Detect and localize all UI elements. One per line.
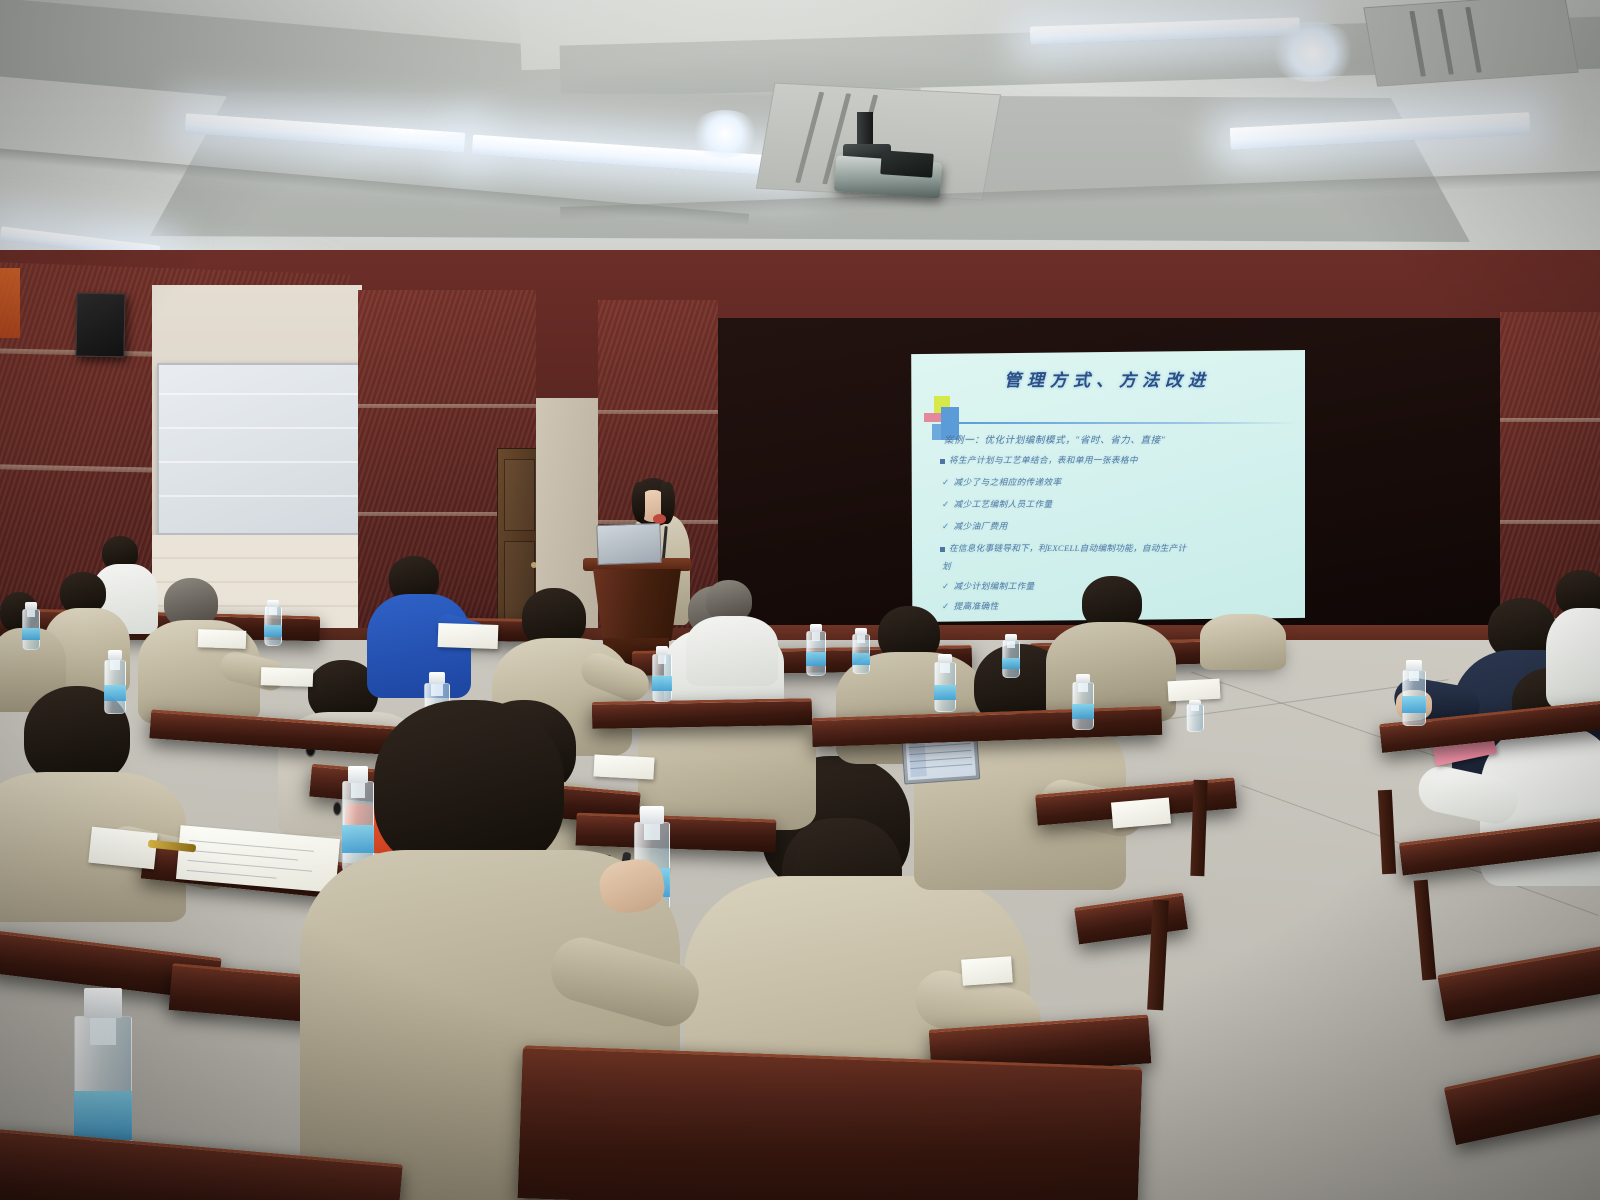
slide-line-text: 减少了与之相应的传递效率 (954, 477, 1062, 487)
bullet-dot-icon (940, 547, 945, 552)
water-bottle[interactable] (22, 602, 40, 650)
slide-line: ✓减少了与之相应的传递效率 (942, 476, 1062, 488)
wall-whiteboard (157, 363, 363, 535)
slide-line: 将生产计划与工艺单结合，表和单用一张表格中 (940, 454, 1138, 466)
slide-line-text: 减少工艺编制人员工作量 (954, 499, 1053, 509)
slide-line: 划 (942, 560, 951, 572)
check-mark-icon: ✓ (942, 581, 950, 592)
audience-member (1552, 570, 1600, 700)
notepaper[interactable] (261, 667, 314, 687)
slide-rule-line (948, 422, 1298, 424)
water-bottle[interactable] (1072, 674, 1094, 730)
notepaper[interactable] (961, 956, 1013, 985)
audience-member (686, 580, 776, 670)
check-mark-icon: ✓ (942, 477, 950, 488)
slide-line-text: 减少油厂费用 (954, 521, 1008, 531)
notepaper[interactable] (198, 629, 247, 649)
ac-ceiling-vent (1363, 0, 1578, 87)
water-bottle[interactable] (264, 600, 282, 646)
slide-line: ✓减少油厂费用 (942, 520, 1008, 532)
ceiling-spotlight (690, 110, 760, 158)
water-bottle[interactable] (1186, 700, 1204, 732)
slide-line: 在信息化事链导和下，利EXCELL自动编制功能，自动生产计 (940, 542, 1186, 554)
water-bottle[interactable] (652, 646, 672, 702)
desk-row-foreground (518, 1045, 1143, 1200)
slide-line-text: 案例一：优化计划编制模式，"省时、省力、直接" (944, 436, 1165, 446)
podium-laptop (596, 523, 661, 565)
slide-line: ✓减少计划编制工作量 (942, 580, 1035, 592)
water-bottle[interactable] (852, 628, 870, 674)
slide-line: 案例一：优化计划编制模式，"省时、省力、直接" (944, 432, 1165, 446)
water-bottle[interactable] (1402, 660, 1426, 726)
slide-line-text: 减少计划编制工作量 (954, 581, 1035, 591)
bullet-dot-icon (940, 459, 945, 464)
wall-speaker (75, 293, 125, 358)
notepaper[interactable] (438, 623, 499, 649)
conference-room-photo: 管理方式、方法改进 案例一：优化计划编制模式，"省时、省力、直接" 将生产计划与… (0, 0, 1600, 1200)
notepaper[interactable] (88, 827, 157, 870)
audience-member (1046, 576, 1176, 706)
slide-line-text: 将生产计划与工艺单结合，表和单用一张表格中 (949, 455, 1138, 465)
notepaper[interactable] (1111, 798, 1171, 829)
water-bottle[interactable] (806, 624, 826, 676)
slide-line-text: 划 (942, 561, 951, 571)
audience-member (1200, 600, 1290, 660)
ceiling-spotlight (1268, 22, 1358, 82)
slide-title: 管理方式、方法改进 (910, 366, 1305, 391)
water-bottle[interactable] (104, 650, 126, 714)
slide-line-text: 在信息化事链导和下，利EXCELL自动编制功能，自动生产计 (949, 543, 1186, 553)
ceiling-projector (835, 112, 965, 194)
notepaper[interactable] (1168, 679, 1221, 702)
slide-line: ✓减少工艺编制人员工作量 (942, 498, 1053, 510)
check-mark-icon: ✓ (942, 499, 950, 510)
water-bottle[interactable] (1002, 634, 1020, 678)
check-mark-icon: ✓ (942, 521, 950, 532)
water-bottle[interactable] (934, 654, 956, 712)
